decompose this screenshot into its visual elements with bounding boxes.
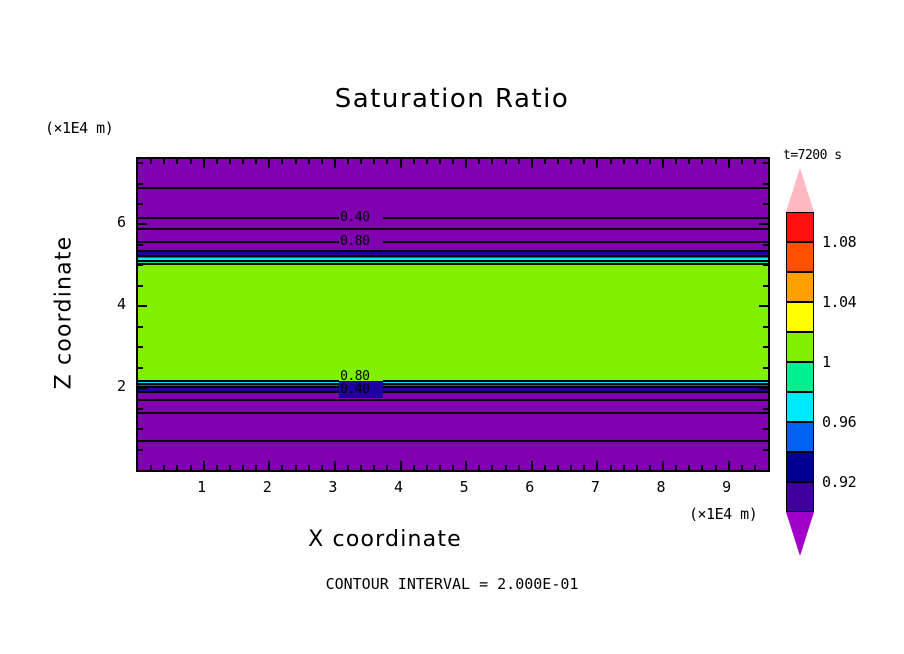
x-axis-minor-tick: [439, 159, 441, 164]
x-axis-minor-tick: [255, 159, 257, 164]
x-axis-minor-tick: [649, 465, 651, 470]
x-axis-minor-tick: [321, 465, 323, 470]
x-axis-minor-tick: [163, 465, 165, 470]
x-axis-tick-label: 2: [252, 478, 282, 496]
x-axis-major-tick: [334, 461, 336, 470]
x-axis-tick-label: 4: [384, 478, 414, 496]
colorbar-segment: [786, 242, 814, 272]
y-axis-minor-tick: [138, 367, 143, 369]
contour-line: [138, 440, 768, 442]
x-axis-minor-tick: [701, 465, 703, 470]
x-axis-minor-tick: [216, 159, 218, 164]
x-axis-minor-tick: [308, 465, 310, 470]
x-axis-minor-tick: [741, 465, 743, 470]
x-axis-minor-tick: [701, 159, 703, 164]
y-axis-minor-tick: [138, 449, 143, 451]
contour-line: [138, 391, 768, 393]
y-axis-minor-tick: [763, 346, 768, 348]
y-axis-minor-tick: [763, 203, 768, 205]
x-axis-minor-tick: [491, 465, 493, 470]
x-axis-minor-tick: [688, 159, 690, 164]
x-axis-minor-tick: [360, 465, 362, 470]
x-axis-minor-tick: [347, 465, 349, 470]
x-axis-major-tick: [203, 159, 205, 168]
y-axis-minor-tick: [138, 285, 143, 287]
x-axis-minor-tick: [426, 465, 428, 470]
x-axis-minor-tick: [360, 159, 362, 164]
x-axis-minor-tick: [190, 465, 192, 470]
y-axis-minor-tick: [763, 428, 768, 430]
x-axis-minor-tick: [242, 465, 244, 470]
contour-line: [138, 241, 768, 243]
y-axis-label: Z coordinate: [52, 203, 77, 423]
contour-value-label: 0.80: [340, 235, 369, 248]
contour-line: [138, 255, 768, 257]
timestamp-annotation: t=7200 s: [783, 148, 842, 163]
colorbar-tick-label: 0.92: [822, 473, 856, 491]
x-axis-minor-tick: [688, 465, 690, 470]
contour-value-label: 0.40: [340, 211, 369, 224]
x-axis-minor-tick: [505, 159, 507, 164]
x-axis-minor-tick: [386, 159, 388, 164]
contour-value-label: 0.40: [340, 383, 369, 396]
y-axis-minor-tick: [763, 162, 768, 164]
x-axis-minor-tick: [478, 465, 480, 470]
x-axis-minor-tick: [150, 159, 152, 164]
x-axis-tick-label: 6: [515, 478, 545, 496]
x-axis-minor-tick: [557, 159, 559, 164]
plot-area: 0.400.800.800.40: [136, 157, 770, 472]
x-axis-minor-tick: [610, 159, 612, 164]
x-axis-minor-tick: [478, 159, 480, 164]
x-axis-minor-tick: [518, 159, 520, 164]
contour-interval-caption: CONTOUR INTERVAL = 2.000E-01: [0, 575, 904, 593]
y-axis-major-tick: [759, 387, 768, 389]
x-axis-minor-tick: [321, 159, 323, 164]
y-axis-major-tick: [759, 305, 768, 307]
y-axis-tick-label: 4: [96, 295, 126, 313]
colorbar-tick-label: 1.04: [822, 293, 856, 311]
x-axis-minor-tick: [452, 465, 454, 470]
x-axis-minor-tick: [544, 159, 546, 164]
x-axis-tick-label: 7: [580, 478, 610, 496]
y-axis-minor-tick: [138, 264, 143, 266]
x-axis-major-tick: [268, 159, 270, 168]
colorbar-over-arrow: [786, 168, 814, 212]
colorbar-segment: [786, 422, 814, 452]
x-axis-tick-label: 1: [187, 478, 217, 496]
x-axis-major-tick: [662, 461, 664, 470]
colorbar-segment: [786, 272, 814, 302]
x-axis-major-tick: [268, 461, 270, 470]
x-axis-major-tick: [728, 159, 730, 168]
colorbar-tick-label: 1.08: [822, 233, 856, 251]
colorbar-tick-label: 1: [822, 353, 831, 371]
x-axis-minor-tick: [583, 159, 585, 164]
x-axis-tick-label: 5: [449, 478, 479, 496]
x-axis-minor-tick: [295, 159, 297, 164]
x-axis-minor-tick: [518, 465, 520, 470]
x-axis-minor-tick: [570, 159, 572, 164]
x-axis-major-tick: [465, 461, 467, 470]
x-axis-minor-tick: [216, 465, 218, 470]
x-axis-minor-tick: [281, 465, 283, 470]
y-axis-major-tick: [138, 387, 147, 389]
x-axis-minor-tick: [426, 159, 428, 164]
x-axis-minor-tick: [176, 159, 178, 164]
x-axis-major-tick: [465, 159, 467, 168]
x-axis-minor-tick: [715, 465, 717, 470]
y-axis-minor-tick: [763, 408, 768, 410]
colorbar-segment: [786, 452, 814, 482]
x-axis-minor-tick: [242, 159, 244, 164]
x-axis-minor-tick: [544, 465, 546, 470]
y-axis-minor-tick: [763, 244, 768, 246]
x-axis-minor-tick: [505, 465, 507, 470]
y-axis-minor-tick: [763, 367, 768, 369]
contour-line: [138, 399, 768, 401]
colorbar-segment: [786, 482, 814, 512]
x-axis-minor-tick: [413, 159, 415, 164]
x-axis-minor-tick: [623, 159, 625, 164]
y-axis-minor-tick: [138, 408, 143, 410]
colorbar-segment: [786, 302, 814, 332]
x-axis-minor-tick: [675, 465, 677, 470]
y-axis-unit-label: (×1E4 m): [45, 119, 113, 137]
y-axis-minor-tick: [138, 326, 143, 328]
x-axis-minor-tick: [413, 465, 415, 470]
x-axis-major-tick: [203, 461, 205, 470]
colorbar-tick-label: 0.96: [822, 413, 856, 431]
x-axis-minor-tick: [623, 465, 625, 470]
x-axis-tick-label: 8: [646, 478, 676, 496]
contour-line: [138, 217, 768, 219]
contour-line: [138, 228, 768, 230]
colorbar[interactable]: 1.081.0410.960.92: [786, 212, 814, 512]
y-axis-minor-tick: [138, 183, 143, 185]
y-axis-major-tick: [138, 223, 147, 225]
x-axis-minor-tick: [295, 465, 297, 470]
contour-line: [138, 263, 768, 265]
y-axis-minor-tick: [138, 162, 143, 164]
x-axis-minor-tick: [452, 159, 454, 164]
y-axis-minor-tick: [138, 244, 143, 246]
y-axis-minor-tick: [763, 449, 768, 451]
x-axis-minor-tick: [281, 159, 283, 164]
x-axis-minor-tick: [675, 159, 677, 164]
y-axis-major-tick: [759, 223, 768, 225]
y-axis-minor-tick: [763, 326, 768, 328]
x-axis-minor-tick: [308, 159, 310, 164]
contour-line: [138, 187, 768, 189]
x-axis-minor-tick: [754, 465, 756, 470]
x-axis-minor-tick: [229, 465, 231, 470]
y-axis-minor-tick: [763, 264, 768, 266]
contour-line: [138, 412, 768, 414]
x-axis-major-tick: [662, 159, 664, 168]
x-axis-major-tick: [596, 461, 598, 470]
x-axis-major-tick: [531, 159, 533, 168]
x-axis-minor-tick: [373, 159, 375, 164]
x-axis-major-tick: [531, 461, 533, 470]
contour-band: [138, 159, 768, 251]
x-axis-tick-label: 3: [318, 478, 348, 496]
x-axis-minor-tick: [190, 159, 192, 164]
x-axis-tick-label: 9: [712, 478, 742, 496]
x-axis-minor-tick: [610, 465, 612, 470]
x-axis-major-tick: [400, 159, 402, 168]
x-axis-minor-tick: [557, 465, 559, 470]
x-axis-minor-tick: [583, 465, 585, 470]
x-axis-minor-tick: [754, 159, 756, 164]
contour-plot-figure: Saturation Ratio (×1E4 m) t=7200 s 0.400…: [0, 0, 904, 654]
contour-line: [138, 250, 768, 252]
x-axis-minor-tick: [649, 159, 651, 164]
y-axis-minor-tick: [138, 428, 143, 430]
y-axis-tick-label: 2: [96, 377, 126, 395]
x-axis-minor-tick: [715, 159, 717, 164]
y-axis-major-tick: [138, 305, 147, 307]
y-axis-minor-tick: [763, 183, 768, 185]
colorbar-segment: [786, 212, 814, 242]
x-axis-unit-label: (×1E4 m): [689, 505, 757, 523]
x-axis-minor-tick: [386, 465, 388, 470]
y-axis-minor-tick: [138, 203, 143, 205]
y-axis-minor-tick: [763, 285, 768, 287]
x-axis-minor-tick: [176, 465, 178, 470]
x-axis-minor-tick: [570, 465, 572, 470]
x-axis-minor-tick: [741, 159, 743, 164]
x-axis-major-tick: [596, 159, 598, 168]
contour-band: [138, 264, 768, 381]
x-axis-minor-tick: [229, 159, 231, 164]
contour-line: [138, 386, 768, 388]
x-axis-minor-tick: [491, 159, 493, 164]
x-axis-minor-tick: [636, 159, 638, 164]
x-axis-minor-tick: [373, 465, 375, 470]
x-axis-label: X coordinate: [0, 527, 770, 552]
colorbar-segment: [786, 362, 814, 392]
x-axis-minor-tick: [163, 159, 165, 164]
y-axis-tick-label: 6: [96, 213, 126, 231]
x-axis-major-tick: [728, 461, 730, 470]
x-axis-major-tick: [400, 461, 402, 470]
colorbar-segment: [786, 332, 814, 362]
colorbar-segment: [786, 392, 814, 422]
contour-line: [138, 380, 768, 382]
x-axis-minor-tick: [347, 159, 349, 164]
colorbar-under-arrow: [786, 512, 814, 556]
x-axis-minor-tick: [255, 465, 257, 470]
page-title: Saturation Ratio: [0, 84, 904, 114]
y-axis-minor-tick: [138, 346, 143, 348]
x-axis-minor-tick: [439, 465, 441, 470]
x-axis-major-tick: [334, 159, 336, 168]
x-axis-minor-tick: [150, 465, 152, 470]
contour-line: [138, 383, 768, 385]
contour-band: [138, 392, 768, 470]
x-axis-minor-tick: [636, 465, 638, 470]
